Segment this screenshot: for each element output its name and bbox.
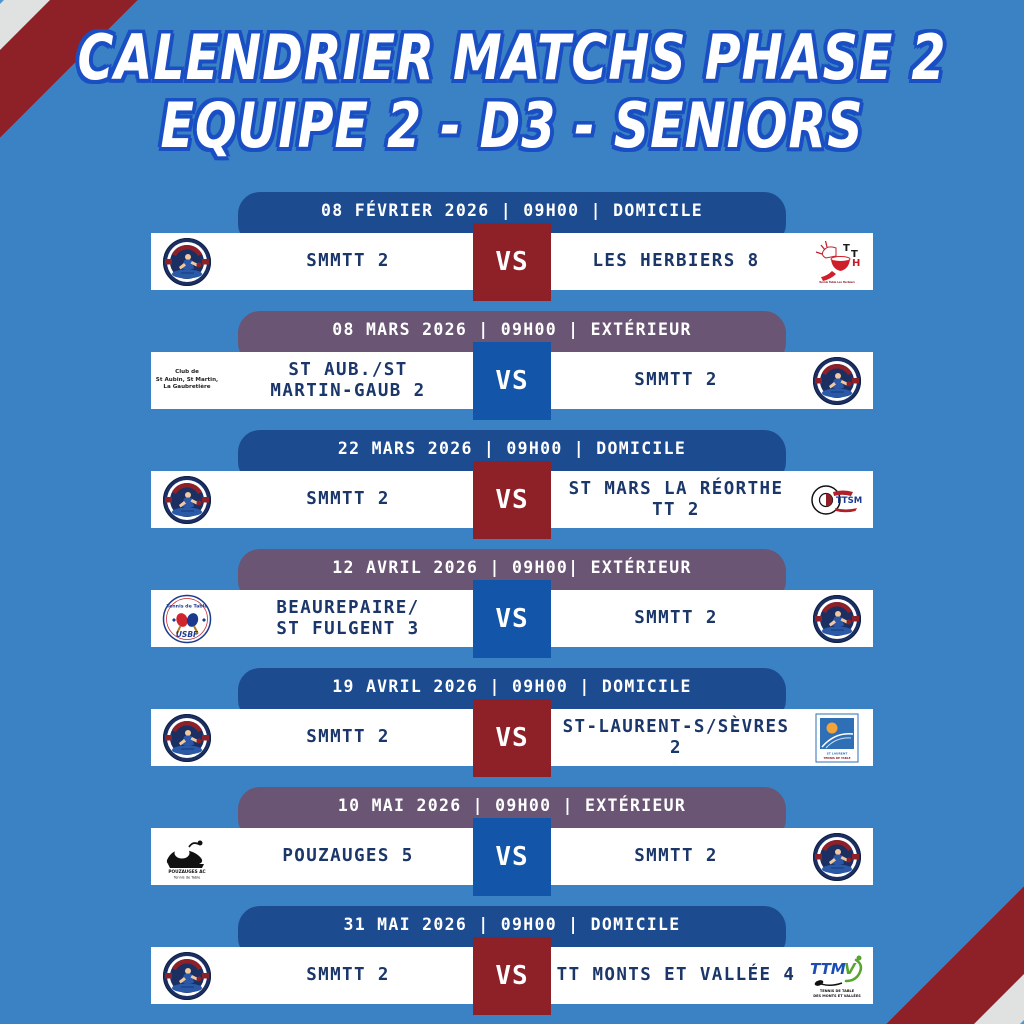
smmtt-badge-icon <box>151 709 223 766</box>
page-title: CALENDRIER MATCHS PHASE 2 EQUIPE 2 - D3 … <box>0 0 1024 144</box>
vs-separator: VS <box>473 937 551 1015</box>
home-team-name: POUZAUGES 5 <box>223 828 473 885</box>
match-card: 08 FÉVRIER 2026 | 09H00 | DOMICILE SMMTT… <box>0 192 1024 290</box>
svg-text:T: T <box>843 243 850 254</box>
match-header-text: 08 FÉVRIER 2026 | 09H00 | DOMICILE <box>321 201 703 220</box>
ttsm-reorthe-icon: TTSM <box>801 471 873 528</box>
home-team-name: ST AUB./ST MARTIN-GAUB 2 <box>223 352 473 409</box>
match-header-text: 12 AVRIL 2026 | 09H00| EXTÉRIEUR <box>332 558 691 577</box>
vs-separator: VS <box>473 580 551 658</box>
smmtt-badge-icon <box>801 590 873 647</box>
match-header-text: 22 MARS 2026 | 09H00 | DOMICILE <box>338 439 686 458</box>
match-card: 08 MARS 2026 | 09H00 | EXTÉRIEURClub de … <box>0 311 1024 409</box>
svg-text:POUZAUGES AC: POUZAUGES AC <box>168 869 205 875</box>
away-team-name: SMMTT 2 <box>551 828 801 885</box>
svg-text:TENNIS DE TABLE: TENNIS DE TABLE <box>824 756 851 760</box>
home-team-name: SMMTT 2 <box>223 947 473 1004</box>
svg-text:ST LAURENT: ST LAURENT <box>827 751 849 755</box>
away-team-label: ST-LAURENT-S/SÈVRES 2 <box>555 717 797 757</box>
away-team-label: ST MARS LA RÉORTHE TT 2 <box>555 479 797 519</box>
svg-text:Tennis de Table: Tennis de Table <box>166 603 207 609</box>
title-line-1: CALENDRIER MATCHS PHASE 2 <box>0 28 1024 89</box>
match-card: 12 AVRIL 2026 | 09H00| EXTÉRIEUR Tennis … <box>0 549 1024 647</box>
vs-separator: VS <box>473 461 551 539</box>
away-team-label: SMMTT 2 <box>634 370 718 390</box>
away-team-name: TT MONTS ET VALLÉE 4 <box>551 947 801 1004</box>
match-body: SMMTT 2VSST-LAURENT-S/SÈVRES 2 ST LAUREN… <box>151 709 873 766</box>
away-team-name: ST MARS LA RÉORTHE TT 2 <box>551 471 801 528</box>
away-team-name: SMMTT 2 <box>551 352 801 409</box>
usbf-paddles-icon: Tennis de Table USBF <box>151 590 223 647</box>
match-header-text: 10 MAI 2026 | 09H00 | EXTÉRIEUR <box>338 796 686 815</box>
svg-text:H: H <box>852 258 860 269</box>
match-card: 10 MAI 2026 | 09H00 | EXTÉRIEUR POUZAUGE… <box>0 787 1024 885</box>
home-team-label: SMMTT 2 <box>306 727 390 747</box>
svg-text:TTM: TTM <box>810 960 846 978</box>
vs-badge: VS <box>473 699 551 777</box>
match-body: Tennis de Table USBF BEAUREPAIRE/ ST FUL… <box>151 590 873 647</box>
smmtt-badge-icon <box>151 471 223 528</box>
vs-separator: VS <box>473 818 551 896</box>
les-herbiers-tth-icon: T T H Tennis Table Les Herbiers <box>801 233 873 290</box>
match-body: SMMTT 2VSTT MONTS ET VALLÉE 4 TTM V TENN… <box>151 947 873 1004</box>
vs-separator: VS <box>473 223 551 301</box>
away-team-name: LES HERBIERS 8 <box>551 233 801 290</box>
st-laurent-sevres-icon: ST LAURENT TENNIS DE TABLE <box>801 709 873 766</box>
smmtt-badge-icon <box>801 828 873 885</box>
vs-badge: VS <box>473 223 551 301</box>
away-team-label: SMMTT 2 <box>634 608 718 628</box>
home-team-label: SMMTT 2 <box>306 489 390 509</box>
smmtt-badge-icon <box>801 352 873 409</box>
home-team-label: ST AUB./ST MARTIN-GAUB 2 <box>270 360 425 400</box>
home-team-label: SMMTT 2 <box>306 965 390 985</box>
away-team-name: SMMTT 2 <box>551 590 801 647</box>
svg-text:Tennis Table Les Herbiers: Tennis Table Les Herbiers <box>819 280 855 284</box>
smmtt-badge-icon <box>151 233 223 290</box>
svg-text:V: V <box>844 960 857 978</box>
match-body: POUZAUGES AC Tennis de Table POUZAUGES 5… <box>151 828 873 885</box>
match-header-text: 19 AVRIL 2026 | 09H00 | DOMICILE <box>332 677 691 696</box>
home-team-name: SMMTT 2 <box>223 709 473 766</box>
svg-text:DES MONTS ET VALLÉES: DES MONTS ET VALLÉES <box>813 993 861 998</box>
match-card: 22 MARS 2026 | 09H00 | DOMICILE SMMTT 2V… <box>0 430 1024 528</box>
smmtt-badge-icon <box>151 947 223 1004</box>
pouzauges-ac-icon: POUZAUGES AC Tennis de Table <box>151 828 223 885</box>
match-header-text: 08 MARS 2026 | 09H00 | EXTÉRIEUR <box>332 320 691 339</box>
away-team-label: LES HERBIERS 8 <box>592 251 759 271</box>
vs-badge: VS <box>473 342 551 420</box>
match-body: Club de St Aubin, St Martin, La Gaubreti… <box>151 352 873 409</box>
home-team-label: POUZAUGES 5 <box>282 846 413 866</box>
home-team-label: BEAUREPAIRE/ ST FULGENT 3 <box>276 598 419 638</box>
away-team-label: TT MONTS ET VALLÉE 4 <box>557 965 796 985</box>
match-card: 31 MAI 2026 | 09H00 | DOMICILE SMMTT 2VS… <box>0 906 1024 1004</box>
match-header-text: 31 MAI 2026 | 09H00 | DOMICILE <box>343 915 680 934</box>
away-team-name: ST-LAURENT-S/SÈVRES 2 <box>551 709 801 766</box>
svg-text:USBF: USBF <box>176 630 199 639</box>
svg-text:TTSM: TTSM <box>836 496 862 506</box>
home-team-name: SMMTT 2 <box>223 471 473 528</box>
vs-separator: VS <box>473 699 551 777</box>
vs-separator: VS <box>473 342 551 420</box>
vs-badge: VS <box>473 937 551 1015</box>
ttmv-icon: TTM V TENNIS DE TABLE DES MONTS ET VALLÉ… <box>801 947 873 1004</box>
svg-text:TENNIS DE TABLE: TENNIS DE TABLE <box>820 989 855 993</box>
home-team-name: SMMTT 2 <box>223 233 473 290</box>
vs-badge: VS <box>473 461 551 539</box>
st-aubin-text-icon: Club de St Aubin, St Martin, La Gaubreti… <box>151 352 223 409</box>
svg-text:Tennis de Table: Tennis de Table <box>173 875 201 879</box>
match-list: 08 FÉVRIER 2026 | 09H00 | DOMICILE SMMTT… <box>0 192 1024 1004</box>
match-body: SMMTT 2VSLES HERBIERS 8 T T H Tennis Tab… <box>151 233 873 290</box>
match-body: SMMTT 2VSST MARS LA RÉORTHE TT 2 TTSM <box>151 471 873 528</box>
home-team-label: SMMTT 2 <box>306 251 390 271</box>
st-aubin-logo-text: Club de St Aubin, St Martin, La Gaubreti… <box>156 369 218 392</box>
away-team-label: SMMTT 2 <box>634 846 718 866</box>
home-team-name: BEAUREPAIRE/ ST FULGENT 3 <box>223 590 473 647</box>
vs-badge: VS <box>473 580 551 658</box>
title-line-2: EQUIPE 2 - D3 - SENIORS <box>0 96 1024 157</box>
match-card: 19 AVRIL 2026 | 09H00 | DOMICILE SMMTT 2… <box>0 668 1024 766</box>
vs-badge: VS <box>473 818 551 896</box>
